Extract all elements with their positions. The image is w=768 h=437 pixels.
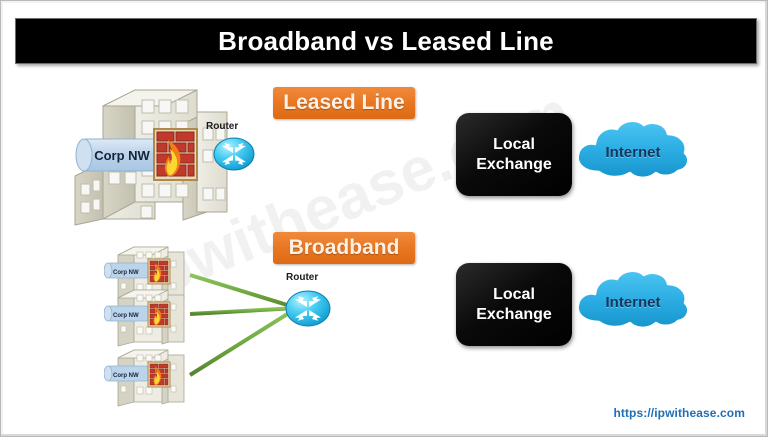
router-icon-leased[interactable] xyxy=(213,136,255,172)
local-exchange-line1: Local xyxy=(493,135,535,155)
local-exchange-leased: Local Exchange xyxy=(456,113,572,196)
local-exchange-line2: Exchange xyxy=(476,155,552,175)
page-title: Broadband vs Leased Line xyxy=(218,26,554,57)
router-label-leased: Router xyxy=(206,121,238,132)
diagram-canvas: Broadband vs Leased Line ipwithease.com xyxy=(0,0,768,437)
svg-text:Corp NW: Corp NW xyxy=(113,270,139,276)
internet-cloud-broadband: Internet xyxy=(568,265,694,339)
internet-label-leased: Internet xyxy=(568,115,694,189)
svg-text:Corp NW: Corp NW xyxy=(113,373,139,379)
local-exchange-line1: Local xyxy=(493,285,535,305)
office-building-icon-small-2: Corp NW xyxy=(104,286,190,348)
local-exchange-line2: Exchange xyxy=(476,305,552,325)
svg-text:Corp NW: Corp NW xyxy=(113,313,139,319)
office-building-icon-small-3: Corp NW xyxy=(104,346,190,408)
corp-network-label: Corp NW xyxy=(75,137,161,173)
internet-cloud-leased: Internet xyxy=(568,115,694,189)
local-exchange-broadband: Local Exchange xyxy=(456,263,572,346)
router-icon-broadband[interactable] xyxy=(285,289,331,328)
broadband-label: Broadband xyxy=(273,232,415,264)
firewall-icon xyxy=(153,128,198,181)
title-banner: Broadband vs Leased Line xyxy=(15,18,757,64)
broadband-site-link-2 xyxy=(190,308,297,314)
footer-website-link[interactable]: https://ipwithease.com xyxy=(613,406,745,420)
leased-line-label: Leased Line xyxy=(273,87,415,119)
router-label-broadband: Router xyxy=(286,272,318,283)
corp-network-cylinder-icon: Corp NW xyxy=(75,137,161,173)
broadband-site-link-3 xyxy=(190,308,297,375)
internet-label-broadband: Internet xyxy=(568,265,694,339)
broadband-site-link-1 xyxy=(190,275,297,308)
